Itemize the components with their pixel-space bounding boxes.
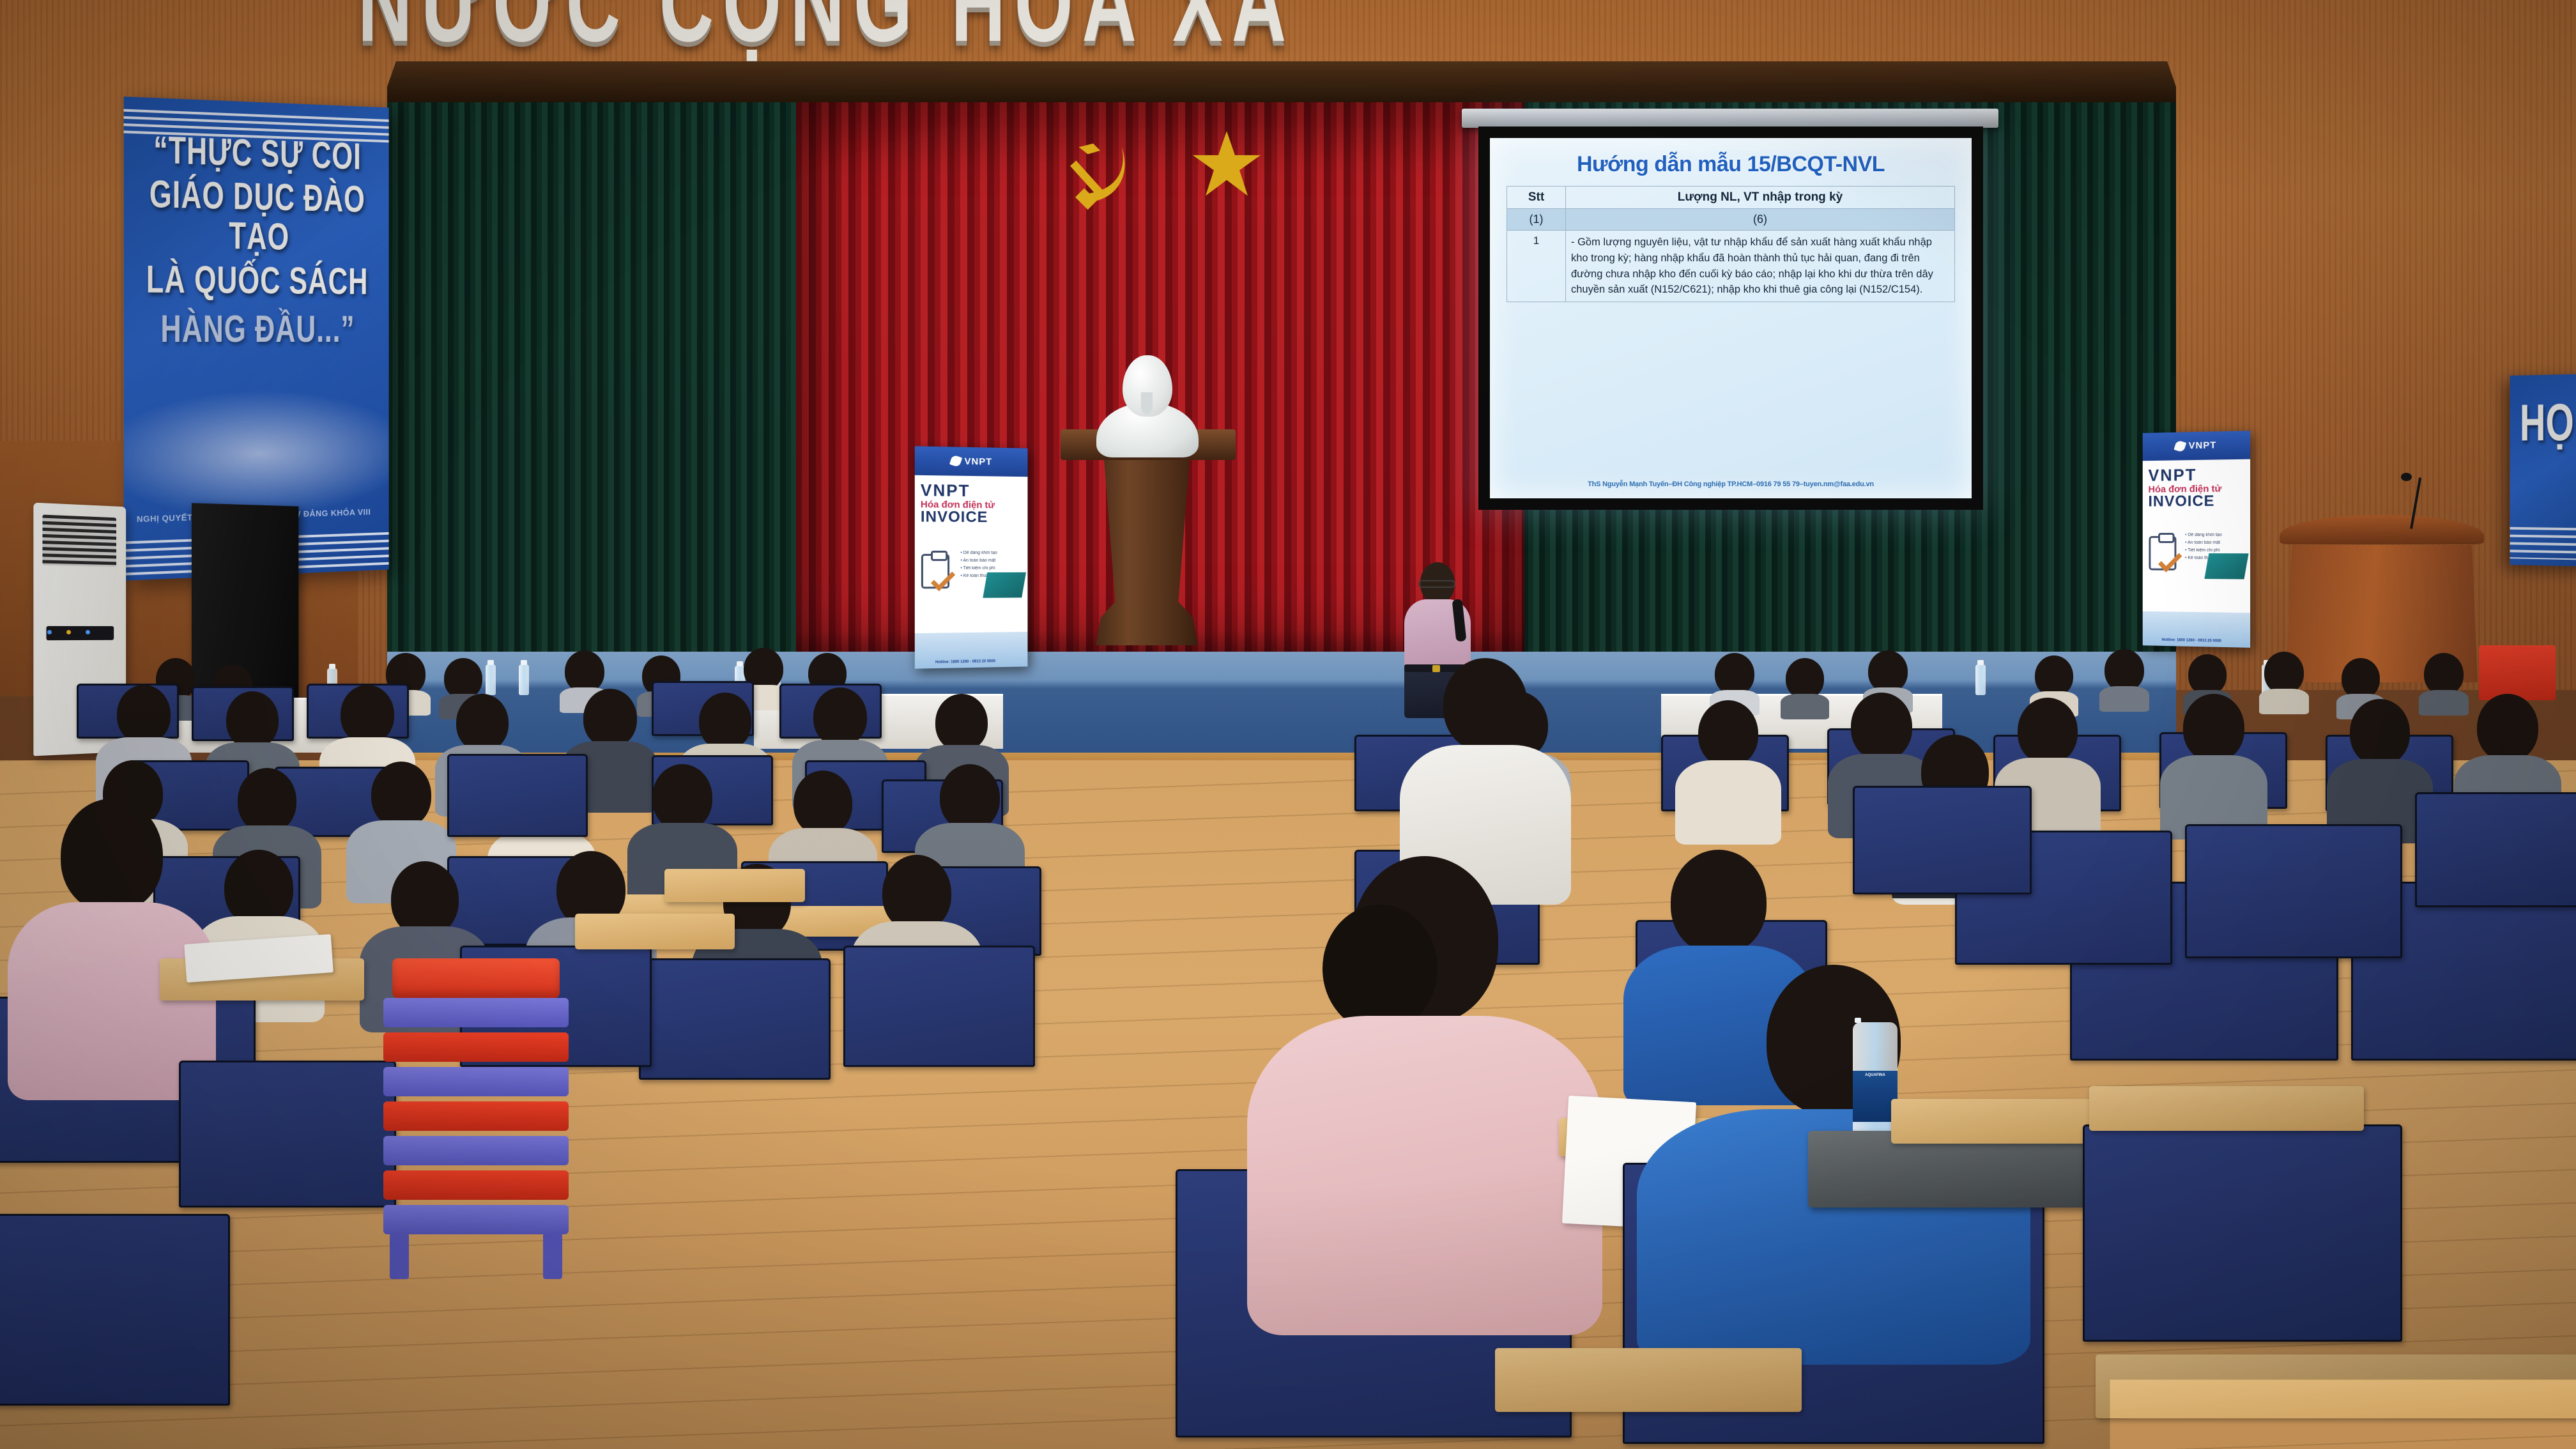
writing-tablet [2089, 1086, 2364, 1131]
projector-screen-housing [1462, 109, 1998, 128]
microphone-capsule-icon [2401, 473, 2412, 481]
vnpt-right-product: INVOICE [2148, 492, 2244, 510]
ac-led-indicator [47, 630, 52, 634]
slide-th-quantity: Lượng NL, VT nhập trong kỳ [1566, 187, 1955, 209]
stool-rail [383, 1136, 569, 1165]
vnpt-standee-right: VNPT VNPT Hóa đơn điện tử INVOICE Dễ dàn… [2143, 431, 2250, 648]
laptop-icon [983, 572, 1026, 598]
audience-member [2159, 694, 2268, 841]
chair [0, 1214, 230, 1406]
audience-member-foreground-center [1246, 856, 1604, 1329]
audience-member [2102, 649, 2147, 707]
stool-rail [383, 1101, 569, 1131]
water-bottle [519, 664, 529, 695]
slide-row-content: - Gồm lượng nguyên liệu, vật tư nhập khẩ… [1566, 231, 1955, 302]
ac-air-grille [42, 515, 116, 567]
vnpt-right-brand: VNPT [2189, 440, 2217, 452]
slide-column-number-row: (1) (6) [1507, 209, 1955, 231]
proscenium-header-beam [387, 61, 2176, 102]
vnpt-right-footer-band: Hotline: 1800 1260 - 0913 20 0000 [2143, 611, 2250, 648]
slide-footer: ThS Nguyễn Mạnh Tuyến–ĐH Công nghiệp TP.… [1506, 480, 1955, 491]
chair [2185, 824, 2402, 958]
five-pointed-star-icon [1188, 126, 1265, 202]
writing-tablet [575, 914, 735, 949]
vnpt-right-footer-text: Hotline: 1800 1260 - 0913 20 0000 [2161, 638, 2221, 643]
vnpt-right-header: VNPT [2143, 431, 2250, 461]
slide-table-head: Stt Lượng NL, VT nhập trong kỳ [1507, 187, 1955, 209]
ac-led-indicator [86, 630, 90, 634]
bust-beard [1141, 392, 1153, 414]
banner-quote-line-4: HÀNG ĐẦU...” [160, 309, 355, 349]
stage-curtain-green-left [387, 102, 809, 707]
vnpt-standee-left: VNPT VNPT Hóa đơn điện tử INVOICE Dễ dàn… [915, 446, 1028, 668]
writing-tablet [1495, 1348, 1802, 1412]
writing-tablet [2096, 1354, 2576, 1418]
stool-rail [383, 1205, 569, 1234]
vnpt-left-product: INVOICE [921, 508, 1022, 526]
vnpt-left-bullet-3: Tiết kiệm chi phí [960, 566, 1023, 571]
laptop-icon [2204, 553, 2248, 579]
slide-surface: Hướng dẫn mẫu 15/BCQT-NVL Stt Lượng NL, … [1490, 138, 1972, 498]
vnpt-right-bullet-3: Tiết kiệm chi phí [2185, 548, 2246, 553]
writing-tablet [664, 869, 805, 902]
vnpt-left-title: VNPT [921, 480, 1022, 502]
chair [447, 754, 588, 837]
slide-table-body: (1) (6) 1 - Gồm lượng nguyên liệu, vật t… [1507, 209, 1955, 302]
chair [2083, 1124, 2402, 1342]
projection-screen: Hướng dẫn mẫu 15/BCQT-NVL Stt Lượng NL, … [1478, 126, 1983, 510]
vnpt-left-header: VNPT [915, 446, 1028, 477]
plastic-stool-stack [383, 958, 575, 1316]
chair [2415, 792, 2576, 907]
slide-colnum-1: (1) [1507, 209, 1566, 231]
banner-light-glare [124, 388, 389, 523]
red-plastic-stool-back [2479, 645, 2556, 700]
vnpt-logo-icon [950, 455, 963, 468]
vnpt-left-brand: VNPT [965, 456, 993, 468]
vnpt-left-bullet-1: Dễ dàng khởi tạo [960, 551, 1023, 555]
chair [843, 946, 1035, 1067]
slide-header-row: Stt Lượng NL, VT nhập trong kỳ [1507, 187, 1955, 209]
stool-leg [543, 1233, 562, 1279]
stool-rail [383, 1067, 569, 1096]
conference-hall-photo: NƯỚC CỘNG HÒA XÃ Hướng dẫn mẫu 15/BCQT-N… [0, 0, 2576, 1449]
audience-member [2262, 652, 2306, 709]
hammer-and-sickle-icon [1057, 128, 1147, 224]
banner-right-word: HỌ [2520, 392, 2574, 452]
banner-quote-line-1: “THỰC SỰ COI [153, 130, 362, 177]
banner-right-edge: HỌ [2510, 373, 2576, 567]
banner-quote-line-2: GIÁO DỤC ĐÀO TẠO [141, 174, 373, 259]
glasses-icon [1418, 580, 1455, 588]
slide-data-row: 1 - Gồm lượng nguyên liệu, vật tư nhập k… [1507, 231, 1955, 302]
stool-leg [390, 1233, 409, 1279]
slide-row-stt: 1 [1507, 231, 1566, 302]
chair [179, 1061, 396, 1207]
water-bottle [486, 664, 496, 695]
wall-slogan-text: NƯỚC CỘNG HÒA XÃ [358, 0, 1295, 68]
vnpt-left-footer-band: Hotline: 1800 1260 - 0913 20 0000 [915, 632, 1028, 669]
slide-colnum-6: (6) [1566, 209, 1955, 231]
stool-rail [383, 1032, 569, 1062]
vnpt-logo-icon [2174, 440, 2187, 452]
ac-led-indicator [66, 630, 71, 634]
stool-rail [383, 1170, 569, 1200]
slide-title: Hướng dẫn mẫu 15/BCQT-NVL [1506, 152, 1955, 177]
vnpt-left-bullet-2: An toàn bảo mật [960, 558, 1023, 563]
chair [639, 958, 831, 1080]
chair [1853, 786, 2032, 894]
slide-th-stt: Stt [1507, 187, 1566, 209]
banner-quote-line-3: LÀ QUỐC SÁCH [146, 259, 369, 302]
banner-right-stripes [2510, 522, 2576, 561]
audience-member [1674, 700, 1782, 847]
vnpt-left-footer-text: Hotline: 1800 1260 - 0913 20 0000 [935, 659, 995, 664]
slide-table: Stt Lượng NL, VT nhập trong kỳ (1) (6) 1… [1506, 186, 1955, 302]
vnpt-right-title: VNPT [2148, 464, 2244, 486]
ac-control-panel [47, 626, 114, 640]
vnpt-right-bullet-2: An toàn bảo mật [2185, 540, 2246, 545]
stool-seat-top [392, 958, 560, 998]
vnpt-right-body: VNPT Hóa đơn điện tử INVOICE Dễ dàng khở… [2143, 459, 2250, 613]
stool-rail [383, 998, 569, 1027]
vnpt-left-body: VNPT Hóa đơn điện tử INVOICE Dễ dàng khở… [915, 475, 1028, 633]
vnpt-right-bullet-1: Dễ dàng khởi tạo [2185, 533, 2246, 537]
water-bottle [1975, 664, 1986, 695]
audience-member [1782, 658, 1827, 716]
